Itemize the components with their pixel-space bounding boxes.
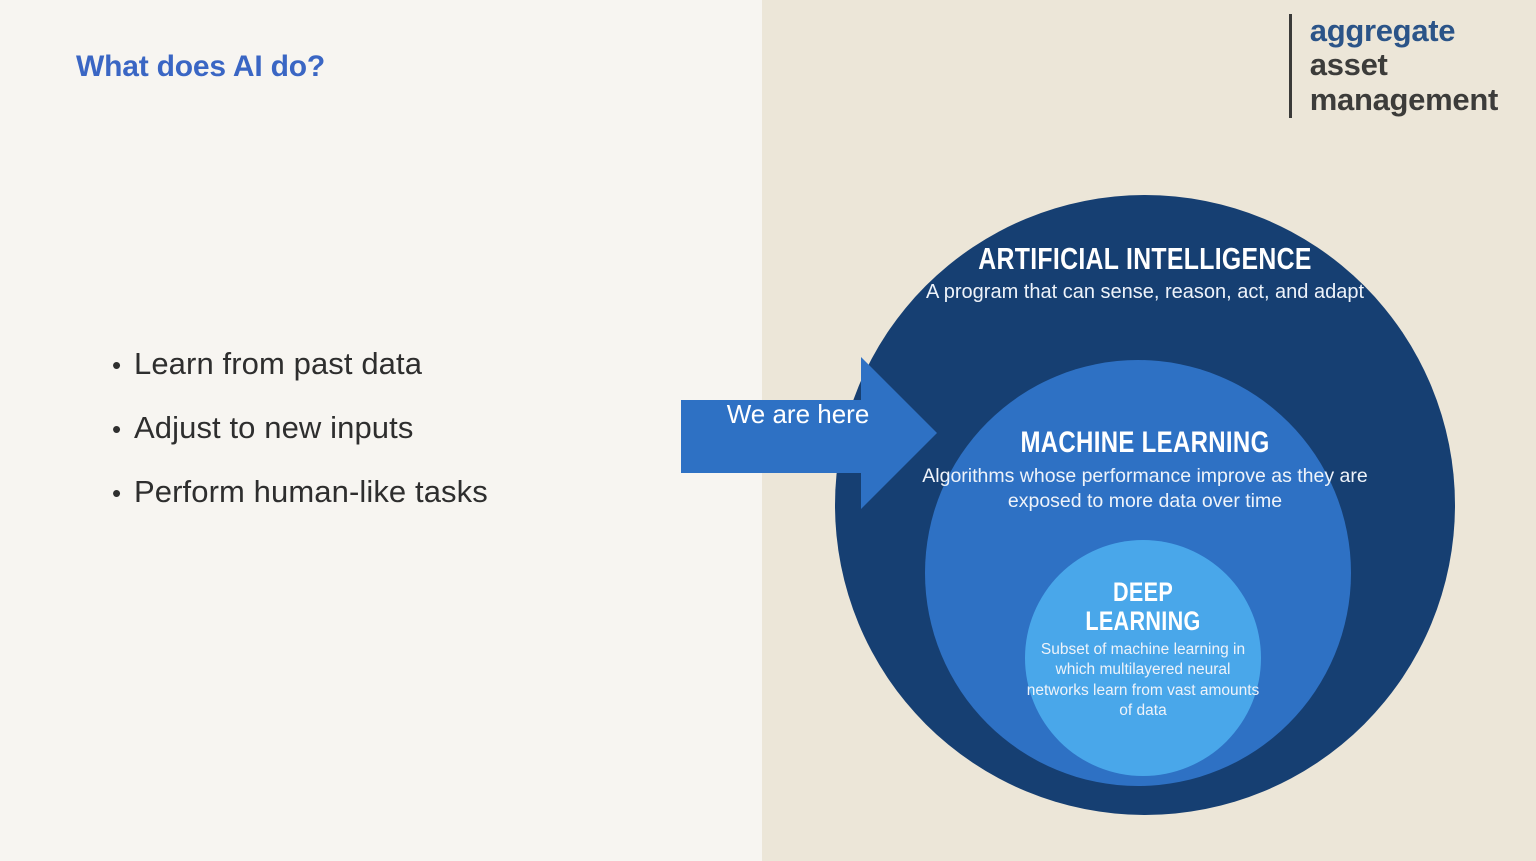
right-arrow-icon [681,355,939,511]
bullet-marker-icon: • [112,352,134,378]
bullet-marker-icon: • [112,416,134,442]
bullet-text: Adjust to new inputs [134,409,413,448]
list-item: • Adjust to new inputs [112,409,672,448]
logo-line-management: management [1310,83,1498,117]
bullet-text: Learn from past data [134,345,422,384]
we-are-here-callout[interactable]: We are here [681,355,939,511]
bullet-list: • Learn from past data • Adjust to new i… [112,345,672,536]
slide-canvas: What does AI do? aggregate asset managem… [0,0,1536,861]
list-item: • Perform human-like tasks [112,473,672,512]
company-logo: aggregate asset management [1289,14,1498,118]
we-are-here-label: We are here [703,400,893,429]
bullet-marker-icon: • [112,480,134,506]
logo-divider-rule [1289,14,1292,118]
logo-wordmark: aggregate asset management [1310,14,1498,118]
logo-line-asset: asset [1310,48,1498,82]
page-title: What does AI do? [76,50,325,84]
bullet-text: Perform human-like tasks [134,473,488,512]
list-item: • Learn from past data [112,345,672,384]
logo-line-aggregate: aggregate [1310,14,1498,48]
